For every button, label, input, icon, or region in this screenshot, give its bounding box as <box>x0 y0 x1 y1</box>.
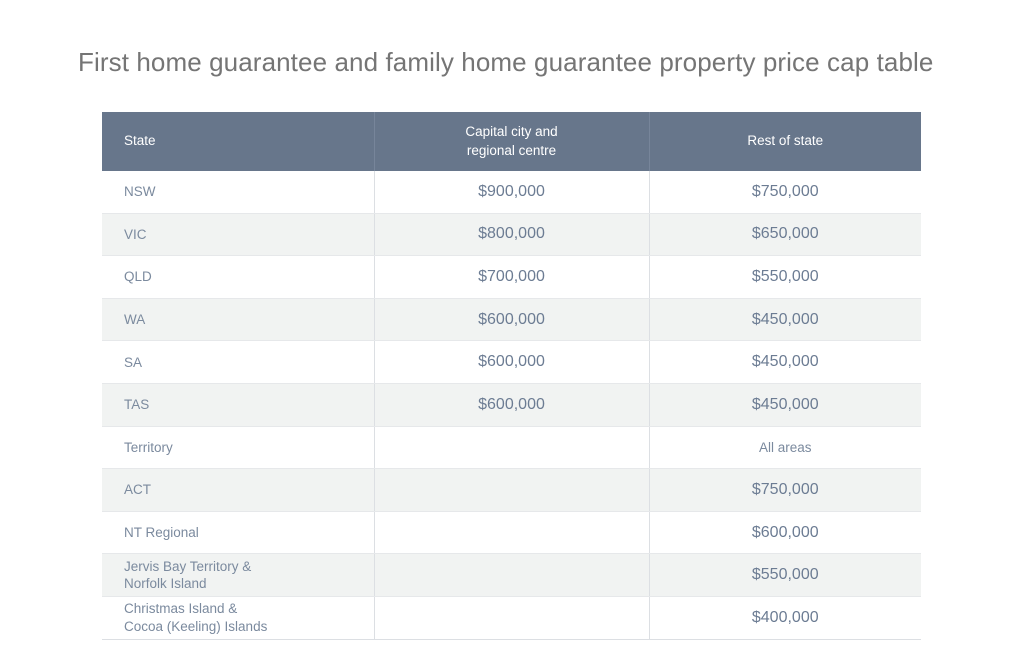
cell-state-line1: ACT <box>124 481 374 498</box>
cell-state: ACT <box>102 469 374 512</box>
cell-state-line1: Christmas Island & <box>124 600 374 617</box>
cell-state: WA <box>102 298 374 341</box>
cell-state-line1: TAS <box>124 396 374 413</box>
cell-rest-of-state: $450,000 <box>649 383 921 426</box>
column-header-rest-of-state: Rest of state <box>649 112 921 171</box>
cell-state-line1: NSW <box>124 183 374 200</box>
cell-state-line1: VIC <box>124 226 374 243</box>
table-row: NT Regional$600,000 <box>102 511 921 554</box>
cell-state: Jervis Bay Territory &Norfolk Island <box>102 554 374 597</box>
column-header-capital-city: Capital city and regional centre <box>374 112 649 171</box>
table-row: SA$600,000$450,000 <box>102 341 921 384</box>
table-header-row: State Capital city and regional centre R… <box>102 112 921 171</box>
cell-state: TAS <box>102 383 374 426</box>
column-header-capital-city-line2: regional centre <box>387 142 637 160</box>
cell-capital-city: $600,000 <box>374 383 649 426</box>
cell-capital-city: $900,000 <box>374 171 649 213</box>
cell-state-line1: QLD <box>124 268 374 285</box>
cell-state-line1: NT Regional <box>124 524 374 541</box>
cell-state-line1: Jervis Bay Territory & <box>124 558 374 575</box>
cell-state: NSW <box>102 171 374 213</box>
column-header-capital-city-line1: Capital city and <box>387 123 637 141</box>
cell-rest-of-state: $750,000 <box>649 171 921 213</box>
cell-rest-of-state: $750,000 <box>649 469 921 512</box>
cell-rest-of-state: $650,000 <box>649 213 921 256</box>
cell-capital-city: $600,000 <box>374 341 649 384</box>
cell-state: SA <box>102 341 374 384</box>
cell-state: Christmas Island &Cocoa (Keeling) Island… <box>102 596 374 639</box>
cell-state-line1: Territory <box>124 439 374 456</box>
page-title: First home guarantee and family home gua… <box>78 47 933 78</box>
table-body: NSW$900,000$750,000VIC$800,000$650,000QL… <box>102 171 921 639</box>
table-row: WA$600,000$450,000 <box>102 298 921 341</box>
table-row: QLD$700,000$550,000 <box>102 256 921 299</box>
cell-rest-of-state: All areas <box>649 426 921 469</box>
table-row: TAS$600,000$450,000 <box>102 383 921 426</box>
cell-capital-city: $600,000 <box>374 298 649 341</box>
cell-capital-city <box>374 469 649 512</box>
cell-rest-of-state: $550,000 <box>649 554 921 597</box>
cell-capital-city: $700,000 <box>374 256 649 299</box>
cell-state-line1: SA <box>124 354 374 371</box>
table-header: State Capital city and regional centre R… <box>102 112 921 171</box>
column-header-state: State <box>102 112 374 171</box>
cell-rest-of-state: $450,000 <box>649 298 921 341</box>
table-row: Jervis Bay Territory &Norfolk Island$550… <box>102 554 921 597</box>
cell-rest-of-state: $450,000 <box>649 341 921 384</box>
price-cap-table: State Capital city and regional centre R… <box>102 112 921 640</box>
cell-capital-city <box>374 511 649 554</box>
cell-state: VIC <box>102 213 374 256</box>
table-row: ACT$750,000 <box>102 469 921 512</box>
cell-rest-of-state: $600,000 <box>649 511 921 554</box>
cell-capital-city <box>374 596 649 639</box>
cell-capital-city <box>374 554 649 597</box>
cell-rest-of-state: $400,000 <box>649 596 921 639</box>
cell-capital-city: $800,000 <box>374 213 649 256</box>
table-row: VIC$800,000$650,000 <box>102 213 921 256</box>
cell-state-line2: Norfolk Island <box>124 575 374 592</box>
table-row: NSW$900,000$750,000 <box>102 171 921 213</box>
cell-state: NT Regional <box>102 511 374 554</box>
table-row: TerritoryAll areas <box>102 426 921 469</box>
cell-rest-of-state: $550,000 <box>649 256 921 299</box>
cell-state-line1: WA <box>124 311 374 328</box>
cell-capital-city <box>374 426 649 469</box>
cell-state: Territory <box>102 426 374 469</box>
cell-state-line2: Cocoa (Keeling) Islands <box>124 618 374 635</box>
price-cap-table-container: State Capital city and regional centre R… <box>102 112 921 640</box>
table-row: Christmas Island &Cocoa (Keeling) Island… <box>102 596 921 639</box>
cell-state: QLD <box>102 256 374 299</box>
